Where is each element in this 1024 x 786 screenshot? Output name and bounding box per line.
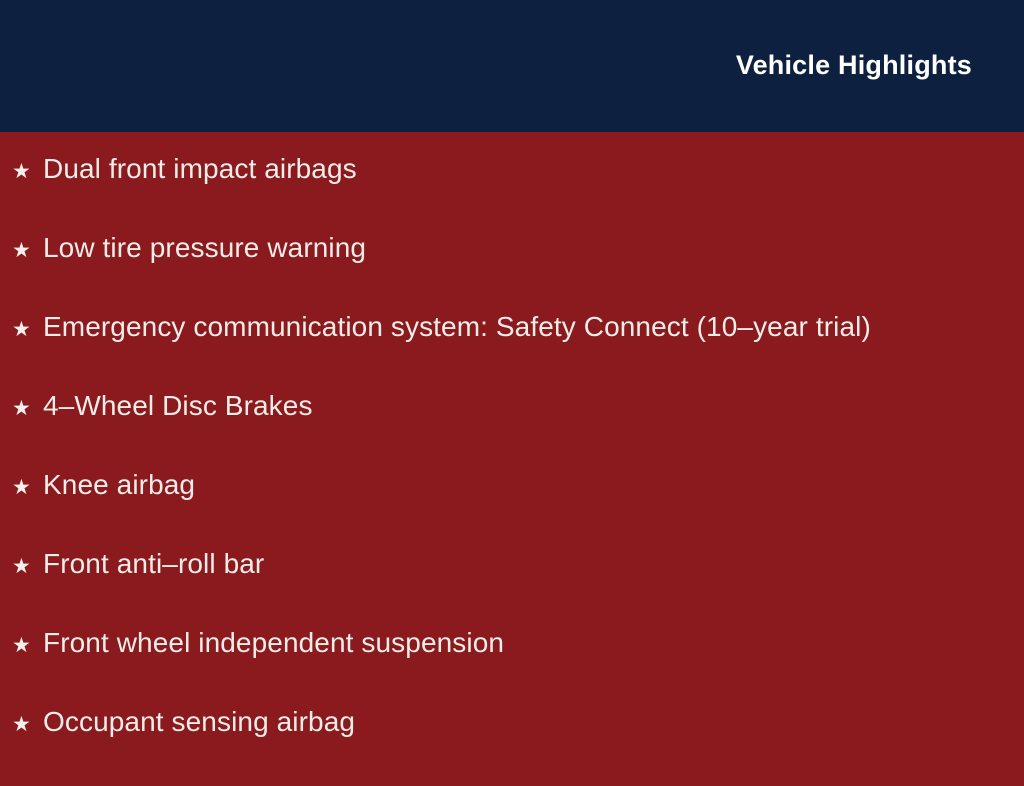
- page-title: Vehicle Highlights: [736, 51, 972, 81]
- list-item-label: Knee airbag: [43, 470, 195, 501]
- list-item-label: Front wheel independent suspension: [43, 628, 504, 659]
- list-item-label: 4–Wheel Disc Brakes: [43, 391, 313, 422]
- star-icon: ★: [12, 714, 43, 735]
- slide-body: ★ Dual front impact airbags ★ Low tire p…: [0, 132, 1024, 768]
- star-icon: ★: [12, 477, 43, 498]
- list-item-label: Dual front impact airbags: [43, 154, 357, 185]
- list-item: ★ Low tire pressure warning: [0, 233, 1024, 312]
- list-item: ★ Emergency communication system: Safety…: [0, 312, 1024, 391]
- list-item: ★ Occupant sensing airbag: [0, 707, 1024, 786]
- list-item: ★ 4–Wheel Disc Brakes: [0, 391, 1024, 470]
- star-icon: ★: [12, 556, 43, 577]
- list-item-label: Occupant sensing airbag: [43, 707, 355, 738]
- star-icon: ★: [12, 635, 43, 656]
- list-item: ★ Front anti–roll bar: [0, 549, 1024, 628]
- star-icon: ★: [12, 319, 43, 340]
- list-item-label: Front anti–roll bar: [43, 549, 264, 580]
- vehicle-highlights-slide: Vehicle Highlights ★ Dual front impact a…: [0, 0, 1024, 768]
- list-item-label: Low tire pressure warning: [43, 233, 366, 264]
- list-item-label: Emergency communication system: Safety C…: [43, 312, 871, 343]
- vehicle-highlights-list: ★ Dual front impact airbags ★ Low tire p…: [0, 132, 1024, 786]
- slide-header: Vehicle Highlights: [0, 0, 1024, 132]
- list-item: ★ Front wheel independent suspension: [0, 628, 1024, 707]
- star-icon: ★: [12, 161, 43, 182]
- star-icon: ★: [12, 398, 43, 419]
- list-item: ★ Dual front impact airbags: [0, 132, 1024, 233]
- list-item: ★ Knee airbag: [0, 470, 1024, 549]
- star-icon: ★: [12, 240, 43, 261]
